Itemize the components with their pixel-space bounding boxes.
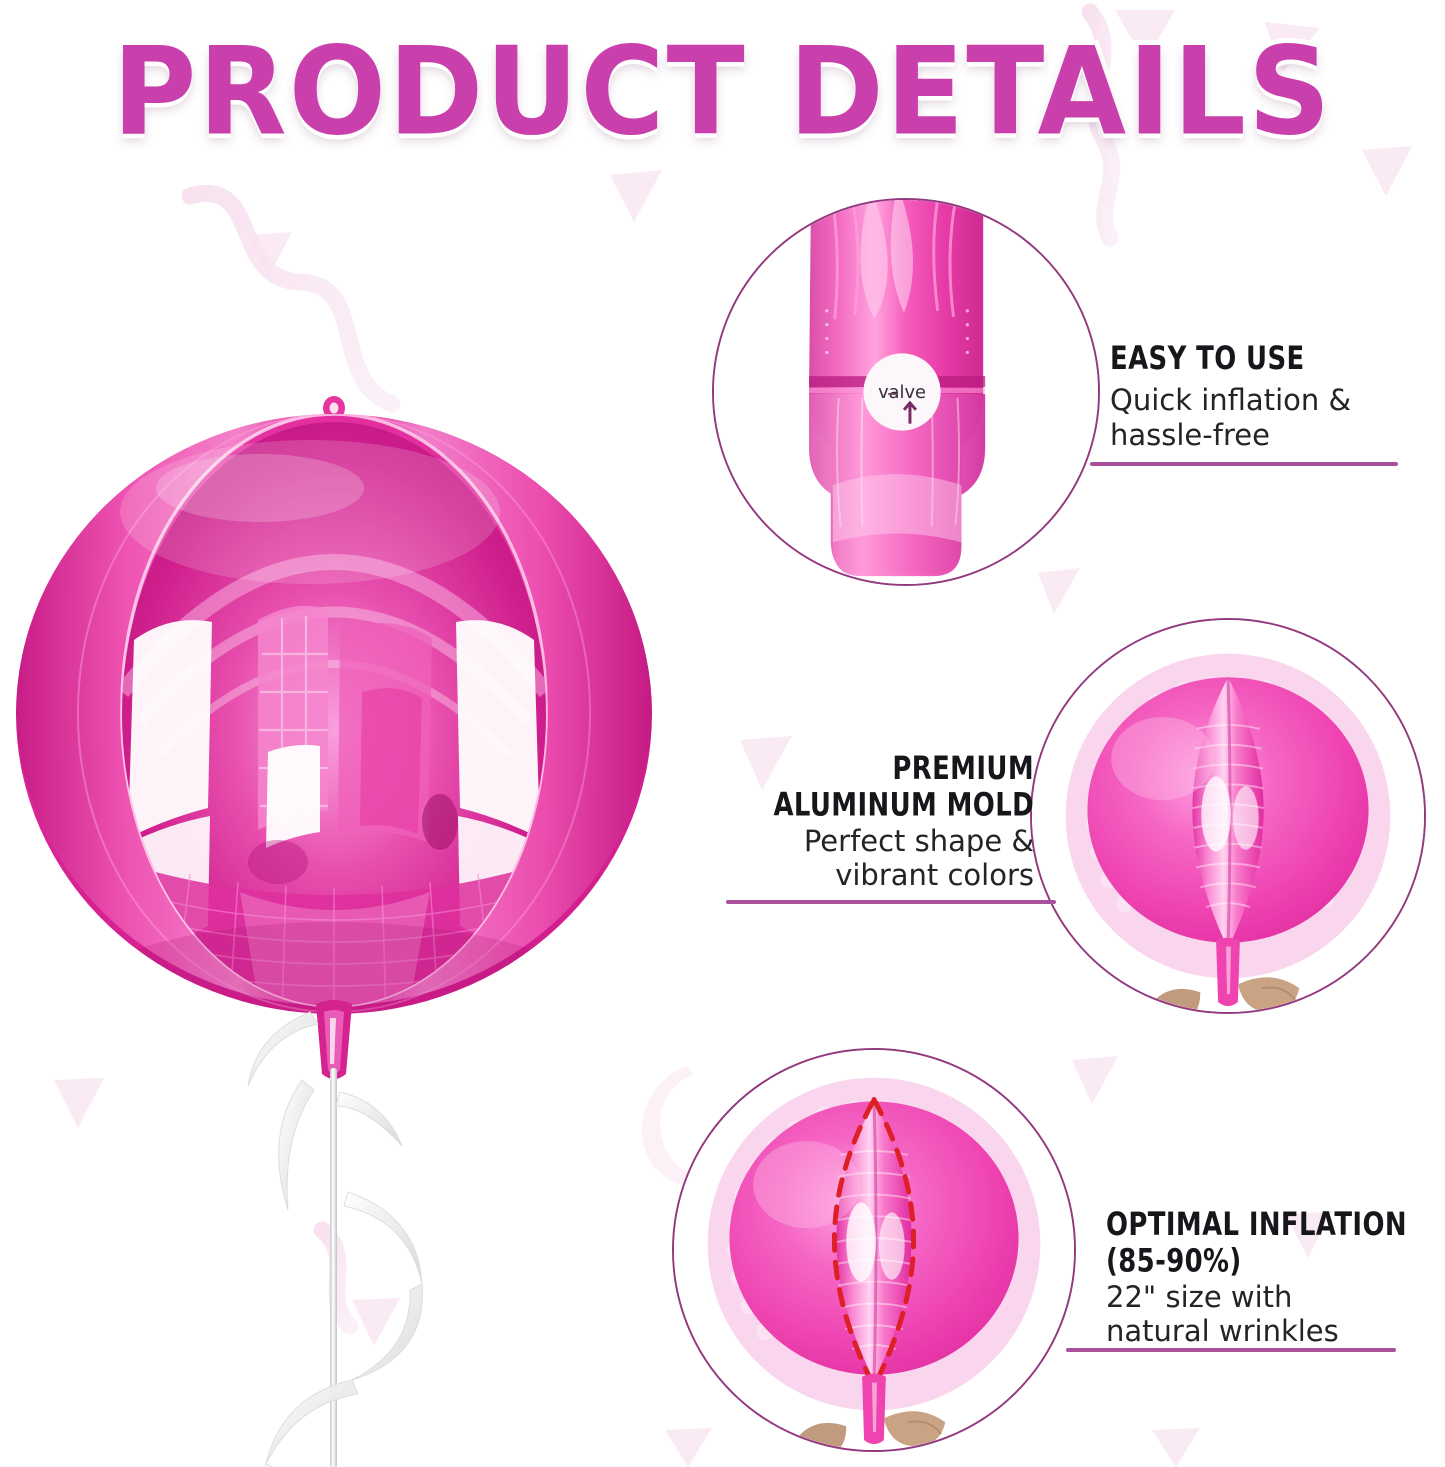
balloon-bottom-tab (316, 1000, 352, 1079)
hero-balloon-image (10, 392, 658, 1112)
page-title: PRODUCT DETAILS (112, 31, 1332, 154)
connector-rule-premium-aluminum-mold (726, 900, 1056, 904)
feature-heading-optimal-inflation: OPTIMAL INFLATION (85-90%) (1106, 1208, 1423, 1281)
connector-rule-easy-to-use (1090, 462, 1398, 466)
feature-body-easy-to-use: Quick inflation & hassle-free (1110, 383, 1430, 453)
page-title-wrapper: PRODUCT DETAILS (0, 38, 1445, 148)
feature-heading-easy-to-use: EASY TO USE (1110, 342, 1417, 378)
infographic-canvas: PRODUCT DETAILS (0, 0, 1445, 1467)
feature-body-premium-aluminum-mold: Perfect shape & vibrant colors (690, 824, 1034, 894)
feature-circle-optimal-inflation (672, 1048, 1076, 1452)
feature-circle-easy-to-use: valve (712, 198, 1100, 586)
valve-label-text: valve (878, 382, 926, 403)
feature-text-optimal-inflation: OPTIMAL INFLATION (85-90%) 22" size with… (1106, 1208, 1436, 1349)
valve-label: valve (863, 353, 940, 430)
feature-circle-premium-aluminum-mold (1030, 618, 1426, 1014)
feature-heading-premium-aluminum-mold: PREMIUM ALUMINUM MOLD (704, 752, 1034, 825)
feature-text-premium-aluminum-mold: PREMIUM ALUMINUM MOLD Perfect shape & vi… (690, 752, 1034, 893)
balloon-stick (330, 1068, 337, 1467)
feature-text-easy-to-use: EASY TO USE Quick inflation & hassle-fre… (1110, 342, 1430, 452)
feature-body-optimal-inflation: 22" size with natural wrinkles (1106, 1280, 1436, 1350)
